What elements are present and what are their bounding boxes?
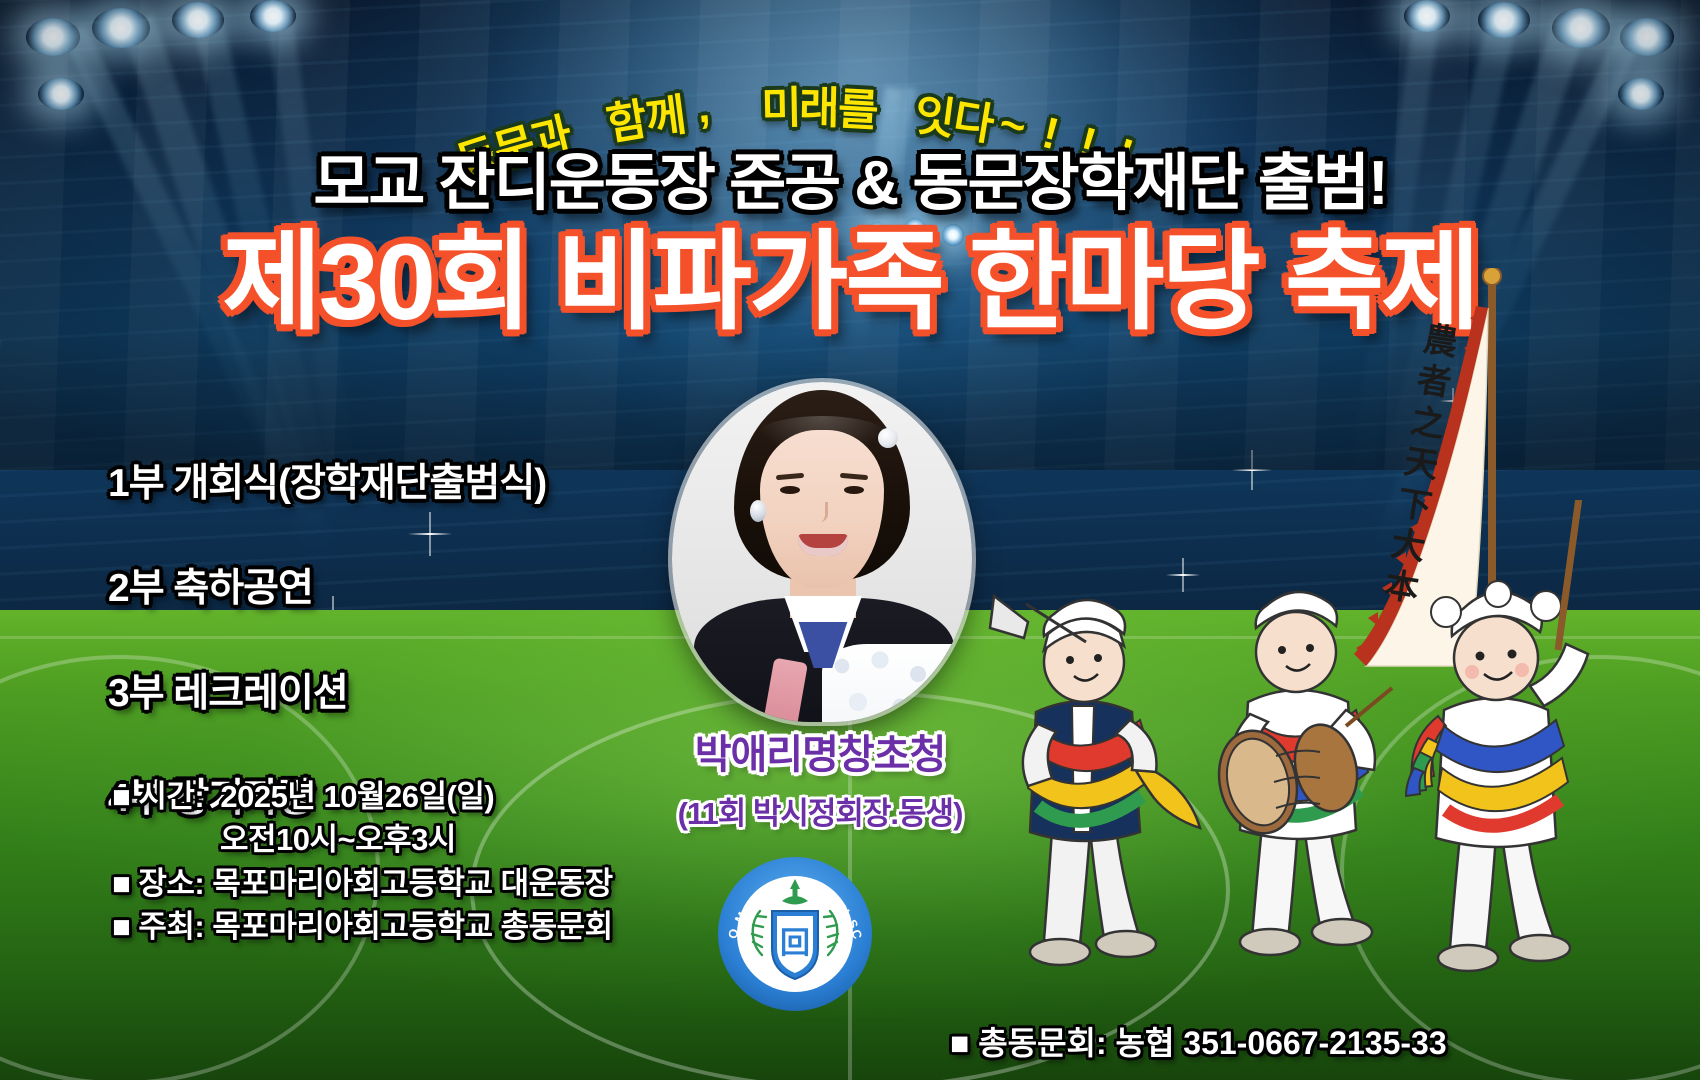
portrait-eye: [780, 486, 800, 494]
list-item: 3부 레크레이션: [108, 662, 628, 718]
portrait-hairpin: [878, 428, 898, 448]
portrait-earring: [750, 500, 766, 522]
portrait-eye: [844, 486, 864, 494]
tagline-char: [735, 80, 749, 131]
school-emblem: MOKPO MARIANIST HIGH SCHOOL SINCE 1966: [716, 855, 874, 1013]
tagline: 동문과 함께, 미래를 잇다~!!!: [470, 42, 1130, 132]
tagline-char: 를: [837, 73, 880, 139]
emblem-monogram: 回: [780, 926, 810, 961]
detail-host: ■ 주최: 목포마리아회고등학교 총동문회: [112, 905, 712, 948]
guest-singer-portrait: [672, 382, 972, 722]
nongak-performers: [980, 500, 1700, 1020]
performer-flag-bearer: [1406, 500, 1588, 971]
hanbok-floral-skirt: [822, 644, 972, 722]
tagline-char: 미: [760, 72, 801, 137]
detail-bank-account: ■ 총동문회: 농협 351-0667-2135-33: [950, 1018, 1690, 1064]
tagline-char: 래: [799, 72, 840, 137]
list-item: 1부 개회식(장학재단출범식): [108, 452, 628, 508]
portrait-nose: [816, 502, 828, 522]
tagline-char: [889, 83, 905, 134]
tagline-char: ,: [695, 83, 711, 134]
performer-horn-player: [990, 596, 1200, 965]
subtitle: 모교 잔디운동장 준공 & 동문장학재단 출범!: [0, 132, 1700, 222]
performer-drummer: [1209, 592, 1392, 955]
detail-place: ■ 장소: 목포마리아회고등학교 대운동장: [112, 862, 712, 905]
festival-poster: 동문과 함께, 미래를 잇다~!!! 모교 잔디운동장 준공 & 동문장학재단 …: [0, 0, 1700, 1080]
list-item: 2부 축하공연: [108, 557, 628, 613]
